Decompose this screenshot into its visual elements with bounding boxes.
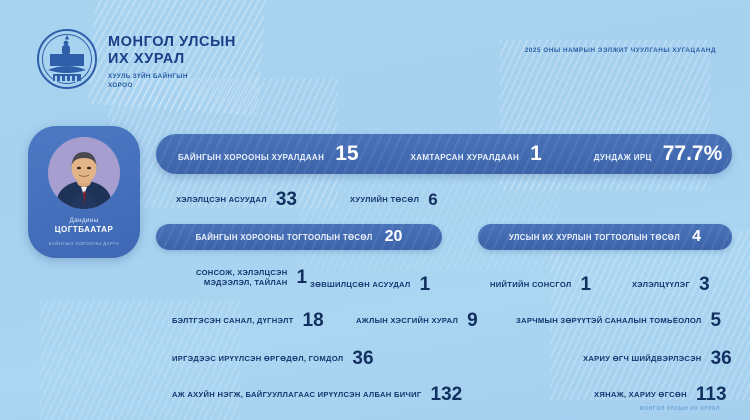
mongolia-state-emblem-icon	[36, 28, 98, 90]
stat-label: ХЭЛЭЛЦСЭН АСУУДАЛ	[176, 195, 267, 205]
stat-value: 113	[696, 385, 727, 404]
stat-value: 5	[711, 311, 722, 330]
section-label: УЛСЫН ИХ ХУРЛЫН ТОГТООЛЫН ТӨСӨЛ	[509, 233, 680, 242]
stat-value: 9	[467, 311, 478, 330]
stat-label-line-2: МЭДЭЭЛЭЛ, ТАЙЛАН	[204, 278, 288, 287]
stat-working-group-meetings: АЖЛЫН ХЭСГИЙН ХУРАЛ 9	[356, 311, 478, 330]
stat-draft-laws: ХУУЛИЙН ТӨСӨЛ 6	[350, 191, 438, 208]
section-value: 20	[385, 228, 403, 246]
committee-subtitle-line-2: ХОРОО	[108, 82, 236, 91]
chairman-role: БАЙНГЫН ХОРООНЫ ДАРГА	[28, 241, 140, 246]
footer-watermark: МОНГОЛ УЛСЫН ИХ ХУРАЛ	[640, 406, 720, 412]
stat-value: 132	[431, 385, 463, 404]
stat-prepared-opinions: БЭЛТГЭСЭН САНАЛ, ДҮГНЭЛТ 18	[172, 311, 324, 330]
stat-value: 36	[711, 349, 732, 368]
stat-joint-sessions: ХАМТАРСАН ХУРАЛДААН 1	[411, 142, 542, 166]
session-period-label: 2025 ОНЫ НАМРЫН ЭЭЛЖИТ ЧУУЛГАНЫ ХУГАЦААН…	[525, 47, 716, 54]
stat-value: 6	[428, 191, 437, 208]
stat-public-hearing: НИЙТИЙН СОНСГОЛ 1	[490, 275, 591, 294]
brand-title-block: МОНГОЛ УЛСЫН ИХ ХУРАЛ ХУУЛЬ ЗҮЙН БАЙНГЫН…	[108, 34, 236, 90]
stat-discussed-issues: ХЭЛЭЛЦСЭН АСУУДАЛ 33	[176, 190, 297, 209]
stat-label: БЭЛТГЭСЭН САНАЛ, ДҮГНЭЛТ	[172, 316, 294, 326]
stat-label: ХЯНАЖ, ХАРИУ ӨГСӨН	[594, 390, 687, 400]
stat-label: ИРГЭДЭЭС ИРҮҮЛСЭН ӨРГӨДӨЛ, ГОМДОЛ	[172, 354, 343, 364]
section-pill-committee-resolutions: БАЙНГЫН ХОРООНЫ ТОГТООЛЫН ТӨСӨЛ 20	[156, 224, 442, 250]
infographic-canvas: МОНГОЛ УЛСЫН ИХ ХУРАЛ ХУУЛЬ ЗҮЙН БАЙНГЫН…	[0, 0, 750, 420]
stat-value: 1	[420, 275, 431, 294]
brand-line-1: МОНГОЛ УЛСЫН	[108, 34, 236, 51]
stat-average-attendance: ДУНДАЖ ИРЦ 77.7%	[594, 142, 722, 166]
main-statistics-bar: БАЙНГЫН ХОРООНЫ ХУРАЛДААН 15 ХАМТАРСАН Х…	[156, 134, 732, 174]
stat-label: ХЭЛЭЛЦҮҮЛЭГ	[632, 280, 690, 290]
stat-citizen-petitions: ИРГЭДЭЭС ИРҮҮЛСЭН ӨРГӨДӨЛ, ГОМДОЛ 36	[172, 349, 374, 368]
stat-label-line-1: СОНСОЖ, ХЭЛЭЛЦСЭН	[196, 268, 288, 277]
stat-committee-sessions: БАЙНГЫН ХОРООНЫ ХУРАЛДААН 15	[178, 142, 359, 166]
stat-label: СОНСОЖ, ХЭЛЭЛЦСЭН МЭДЭЭЛЭЛ, ТАЙЛАН	[196, 268, 288, 287]
stat-value: 36	[352, 349, 373, 368]
section-label: БАЙНГЫН ХОРООНЫ ТОГТООЛЫН ТӨСӨЛ	[196, 233, 373, 242]
stat-label: ЗӨВШИЛЦСӨН АСУУДАЛ	[310, 280, 411, 290]
stat-label: БАЙНГЫН ХОРООНЫ ХУРАЛДААН	[178, 153, 324, 162]
stat-label: АЖЛЫН ХЭСГИЙН ХУРАЛ	[356, 316, 458, 326]
section-pill-parliament-resolutions: УЛСЫН ИХ ХУРЛЫН ТОГТООЛЫН ТӨСӨЛ 4	[478, 224, 732, 250]
chairman-last-name: ЦОГТБААТАР	[28, 225, 140, 234]
stat-value: 1	[530, 142, 542, 166]
stat-deliberations: ХЭЛЭЛЦҮҮЛЭГ 3	[632, 275, 710, 294]
avatar	[48, 137, 120, 209]
stat-value: 33	[276, 190, 297, 209]
stat-value: 15	[335, 142, 358, 166]
brand-line-2: ИХ ХУРАЛ	[108, 51, 236, 68]
chairman-first-name: Дандины	[28, 217, 140, 224]
stat-value: 1	[297, 268, 308, 287]
stat-value: 18	[303, 311, 324, 330]
committee-subtitle-line-1: ХУУЛЬ ЗҮЙН БАЙНГЫН	[108, 73, 236, 82]
stat-agreed-issues: ЗӨВШИЛЦСӨН АСУУДАЛ 1	[310, 275, 430, 294]
stat-label: ХУУЛИЙН ТӨСӨЛ	[350, 195, 419, 205]
stat-label: ХАРИУ ӨГЧ ШИЙДВЭРЛЭСЭН	[583, 354, 702, 364]
stat-heard-reports: СОНСОЖ, ХЭЛЭЛЦСЭН МЭДЭЭЛЭЛ, ТАЙЛАН 1	[196, 268, 307, 287]
stat-answered-resolved: ХАРИУ ӨГЧ ШИЙДВЭРЛЭСЭН 36	[583, 349, 732, 368]
stat-label: ЗАРЧМЫН ЗӨРҮҮТЭЙ САНАЛЫН ТОМЬЁОЛОЛ	[516, 316, 702, 326]
section-value: 4	[692, 228, 701, 246]
stat-value: 1	[580, 275, 591, 294]
stat-official-letters: АЖ АХУЙН НЭГЖ, БАЙГУУЛЛАГААС ИРҮҮЛСЭН АЛ…	[172, 385, 462, 404]
chairman-card: Дандины ЦОГТБААТАР БАЙНГЫН ХОРООНЫ ДАРГА	[28, 126, 140, 258]
page-header: МОНГОЛ УЛСЫН ИХ ХУРАЛ ХУУЛЬ ЗҮЙН БАЙНГЫН…	[0, 0, 750, 108]
stat-label: ДУНДАЖ ИРЦ	[594, 153, 652, 162]
stat-label: НИЙТИЙН СОНСГОЛ	[490, 280, 571, 290]
stat-reviewed-answered: ХЯНАЖ, ХАРИУ ӨГСӨН 113	[594, 385, 727, 404]
stat-label: ХАМТАРСАН ХУРАЛДААН	[411, 153, 520, 162]
stat-principle-disagreement-formulations: ЗАРЧМЫН ЗӨРҮҮТЭЙ САНАЛЫН ТОМЬЁОЛОЛ 5	[516, 311, 721, 330]
committee-subtitle: ХУУЛЬ ЗҮЙН БАЙНГЫН ХОРОО	[108, 73, 236, 90]
stat-label: АЖ АХУЙН НЭГЖ, БАЙГУУЛЛАГААС ИРҮҮЛСЭН АЛ…	[172, 390, 422, 400]
stat-value: 3	[699, 275, 710, 294]
stat-value: 77.7%	[663, 142, 723, 166]
